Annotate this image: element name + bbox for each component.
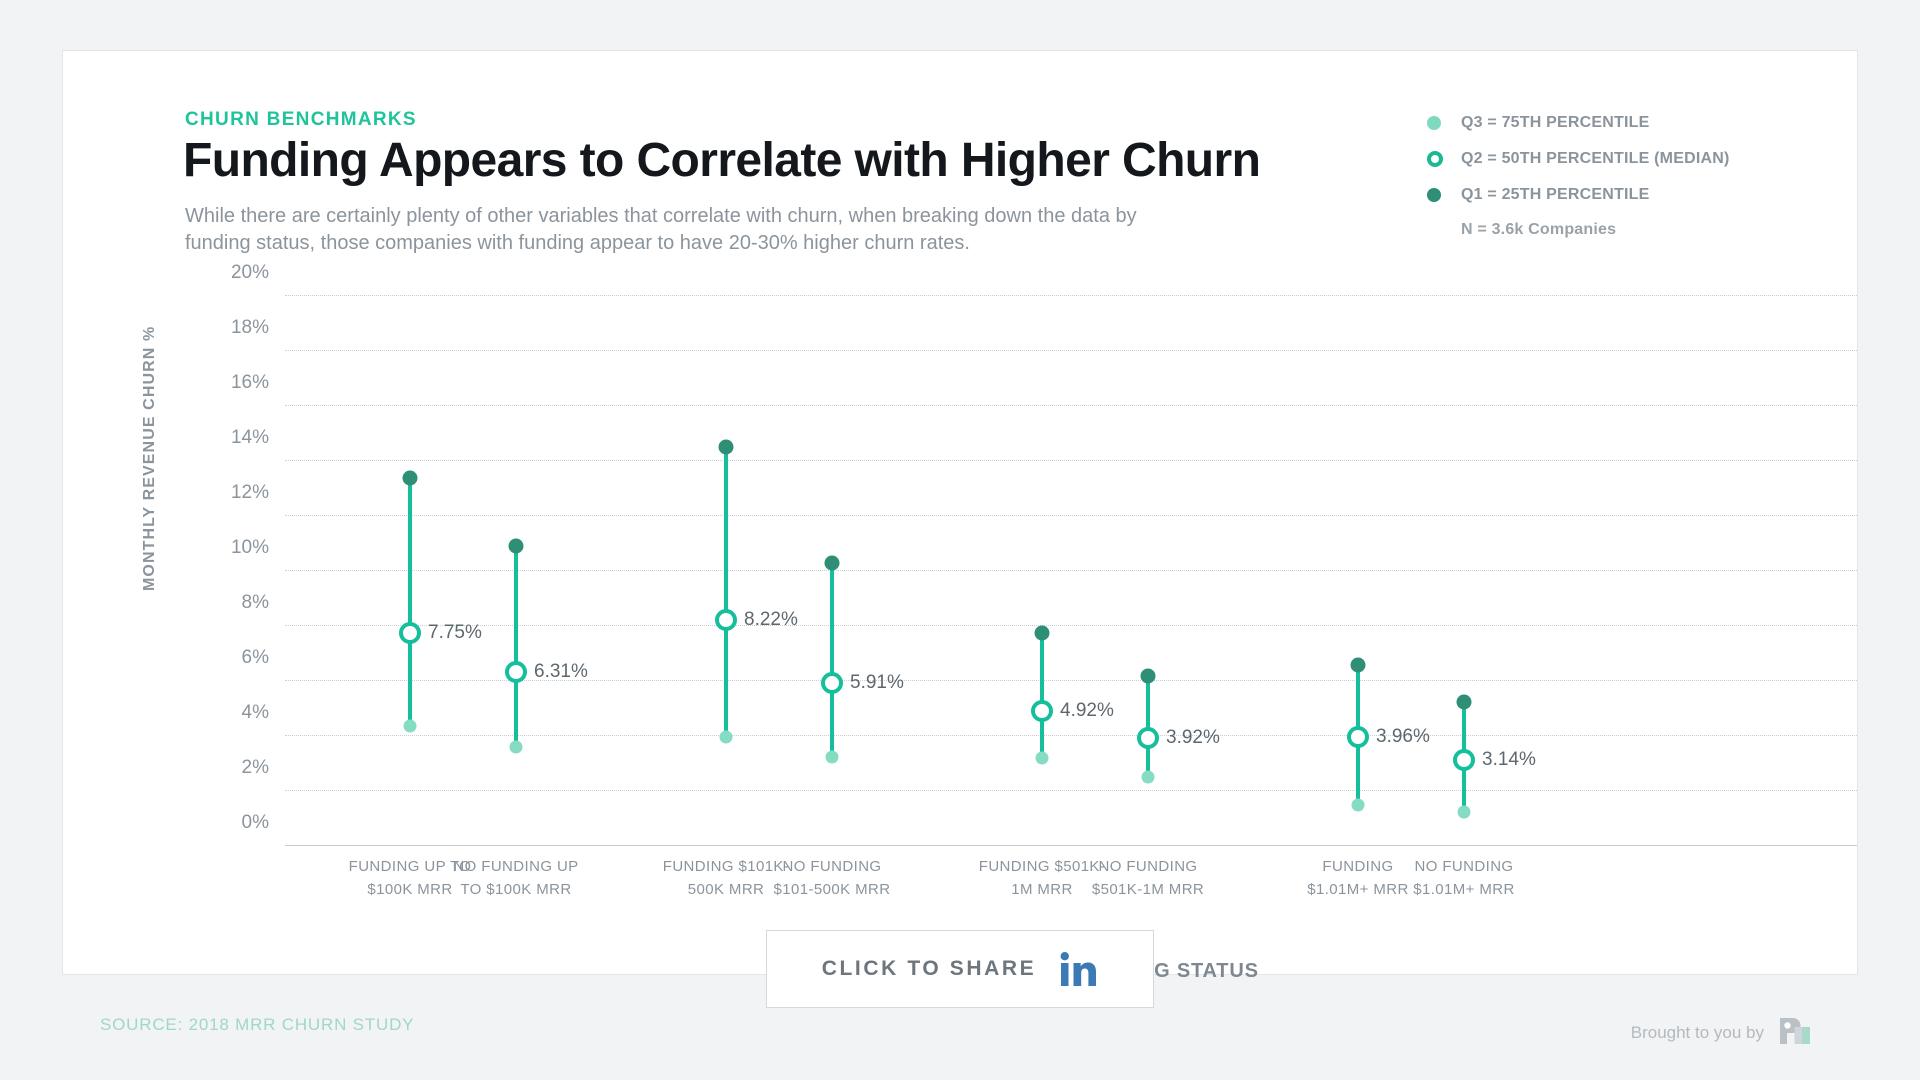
gridline	[285, 570, 1857, 571]
x-axis-category-label: NO FUNDING$501K-1M MRR	[1073, 856, 1223, 901]
q2-marker-dot	[1031, 700, 1053, 722]
y-axis-tick-label: 20%	[153, 262, 269, 284]
median-value-label: 3.96%	[1376, 726, 1430, 748]
gridline	[285, 460, 1857, 461]
y-axis-tick-label: 10%	[153, 537, 269, 559]
category-line: NO FUNDING	[1073, 856, 1223, 879]
q3-marker-dot	[1142, 771, 1155, 784]
q2-marker-dot	[1137, 727, 1159, 749]
range-stem	[1040, 633, 1044, 758]
share-button-label: CLICK TO SHARE	[822, 957, 1037, 981]
median-value-label: 3.92%	[1166, 727, 1220, 749]
source-label: SOURCE: 2018 MRR CHURN STUDY	[100, 1015, 414, 1035]
y-axis-tick-label: 14%	[153, 427, 269, 449]
range-stem	[514, 546, 518, 747]
gridline	[285, 845, 1857, 846]
gridline	[285, 295, 1857, 296]
page-title: Funding Appears to Correlate with Higher…	[183, 133, 1260, 188]
q2-marker-dot	[1347, 726, 1369, 748]
attribution-label: Brought to you by	[1631, 1023, 1764, 1043]
q3-marker-dot	[404, 720, 417, 733]
linkedin-icon	[1058, 949, 1098, 989]
eyebrow-label: CHURN BENCHMARKS	[185, 109, 417, 131]
gridline	[285, 735, 1857, 736]
x-axis-category-label: NO FUNDING UPTO $100K MRR	[441, 856, 591, 901]
median-value-label: 4.92%	[1060, 700, 1114, 722]
chart-legend: Q3 = 75TH PERCENTILE Q2 = 50TH PERCENTIL…	[1427, 105, 1730, 239]
median-value-label: 5.91%	[850, 672, 904, 694]
category-line: NO FUNDING	[757, 856, 907, 879]
q1-marker-dot	[1141, 668, 1156, 683]
q3-marker-dot	[1458, 805, 1471, 818]
range-stem	[724, 447, 728, 737]
q2-ring-swatch-icon	[1427, 151, 1443, 167]
q2-marker-dot	[399, 622, 421, 644]
q1-marker-dot	[509, 539, 524, 554]
q2-marker-dot	[505, 661, 527, 683]
gridline	[285, 405, 1857, 406]
q2-marker-dot	[821, 672, 843, 694]
legend-item-q2: Q2 = 50TH PERCENTILE (MEDIAN)	[1427, 141, 1730, 177]
median-value-label: 8.22%	[744, 609, 798, 631]
subtitle-text: While there are certainly plenty of othe…	[185, 203, 1205, 257]
median-value-label: 7.75%	[428, 622, 482, 644]
q1-marker-dot	[1457, 694, 1472, 709]
category-line: NO FUNDING UP	[441, 856, 591, 879]
range-stem	[408, 478, 412, 727]
legend-item-q3: Q3 = 75TH PERCENTILE	[1427, 105, 1730, 141]
q3-swatch-icon	[1427, 116, 1441, 130]
y-axis-tick-label: 12%	[153, 482, 269, 504]
y-axis-tick-label: 2%	[153, 757, 269, 779]
y-axis-tick-label: 6%	[153, 647, 269, 669]
q1-marker-dot	[825, 555, 840, 570]
category-line: $1.01M+ MRR	[1389, 879, 1539, 902]
q1-marker-dot	[403, 470, 418, 485]
y-axis-tick-label: 16%	[153, 372, 269, 394]
range-stem	[830, 563, 834, 757]
sample-size-label: N = 3.6k Companies	[1461, 221, 1730, 239]
y-axis-tick-label: 0%	[153, 812, 269, 834]
category-line: $101-500K MRR	[757, 879, 907, 902]
q2-marker-dot	[1453, 749, 1475, 771]
q2-marker-dot	[715, 609, 737, 631]
q1-swatch-icon	[1427, 188, 1441, 202]
gridline	[285, 350, 1857, 351]
q1-marker-dot	[1351, 657, 1366, 672]
legend-item-label: Q1 = 25TH PERCENTILE	[1461, 186, 1650, 204]
gridline	[285, 515, 1857, 516]
q3-marker-dot	[1352, 798, 1365, 811]
x-axis-category-label: NO FUNDING$1.01M+ MRR	[1389, 856, 1539, 901]
legend-item-label: Q2 = 50TH PERCENTILE (MEDIAN)	[1461, 150, 1730, 168]
attribution: Brought to you by	[1631, 1015, 1812, 1050]
gridline	[285, 625, 1857, 626]
chart-plot-area: MONTHLY REVENUE CHURN % 0%2%4%6%8%10%12%…	[237, 296, 1857, 846]
q1-marker-dot	[1035, 625, 1050, 640]
q3-marker-dot	[1036, 752, 1049, 765]
q3-marker-dot	[826, 750, 839, 763]
profitwell-logo	[1778, 1015, 1812, 1050]
q3-marker-dot	[720, 731, 733, 744]
category-line: NO FUNDING	[1389, 856, 1539, 879]
share-button[interactable]: CLICK TO SHARE	[766, 930, 1154, 1008]
y-axis-tick-label: 18%	[153, 317, 269, 339]
infographic-card: CHURN BENCHMARKS Funding Appears to Corr…	[62, 50, 1858, 975]
legend-item-q1: Q1 = 25TH PERCENTILE	[1427, 177, 1730, 213]
category-line: $501K-1M MRR	[1073, 879, 1223, 902]
q3-marker-dot	[510, 741, 523, 754]
x-axis-category-label: NO FUNDING$101-500K MRR	[757, 856, 907, 901]
q1-marker-dot	[719, 440, 734, 455]
legend-item-label: Q3 = 75TH PERCENTILE	[1461, 114, 1650, 132]
category-line: TO $100K MRR	[441, 879, 591, 902]
y-axis-tick-label: 4%	[153, 702, 269, 724]
gridline	[285, 790, 1857, 791]
y-axis-tick-label: 8%	[153, 592, 269, 614]
median-value-label: 6.31%	[534, 661, 588, 683]
median-value-label: 3.14%	[1482, 749, 1536, 771]
